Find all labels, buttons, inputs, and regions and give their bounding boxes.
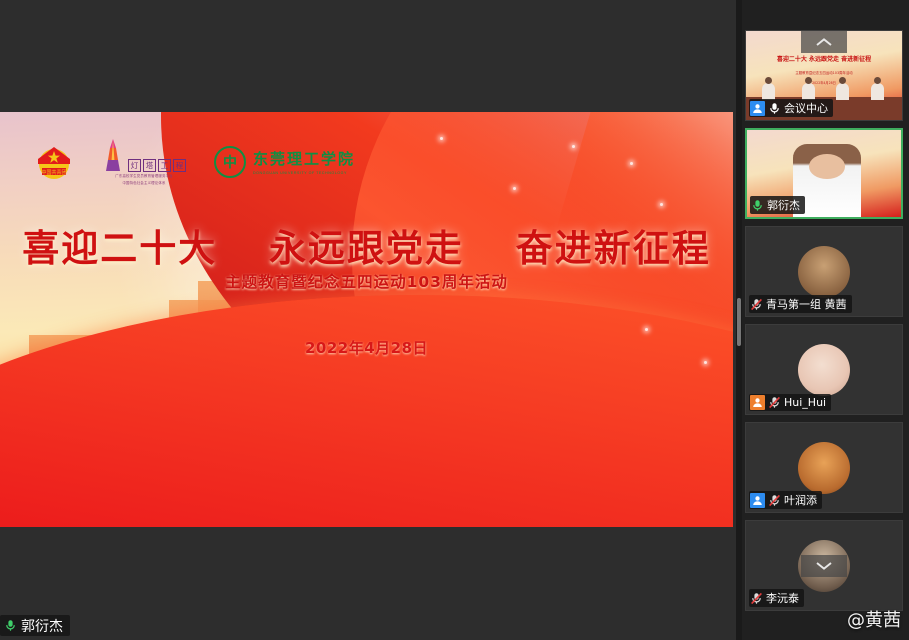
host-badge-icon (750, 101, 765, 116)
stage-speaker-label: 郭衍杰 (0, 615, 70, 636)
microphone-muted-icon (750, 298, 763, 311)
microphone-muted-icon (768, 494, 781, 507)
filmstrip-scrollbar-track[interactable] (736, 0, 742, 640)
dengta-char-1: 塔 (143, 159, 156, 172)
host-badge-icon (750, 395, 765, 410)
participant-badge: 青马第一组 黄茜 (749, 295, 852, 313)
participant-badge: Hui_Hui (749, 394, 831, 411)
participant-name: 会议中心 (784, 100, 828, 116)
slide-logo-row: 中国共青团 灯 塔 工 程 (34, 138, 355, 185)
participant-tile[interactable]: 叶润添 (745, 422, 903, 513)
participant-tile[interactable]: 李沅泰 (745, 520, 903, 611)
filmstrip-scrollbar-thumb[interactable] (737, 298, 741, 346)
university-seal-icon: 中 (214, 146, 246, 178)
chevron-down-icon[interactable] (801, 555, 847, 577)
slide-title-part1: 喜迎二十大 (22, 227, 217, 270)
participant-name: 李沅泰 (766, 590, 799, 606)
microphone-muted-icon (768, 396, 781, 409)
participant-tile[interactable]: 青马第一组 黄茜 (745, 226, 903, 317)
dengta-char-0: 灯 (128, 159, 141, 172)
dengta-char-3: 程 (173, 159, 186, 172)
thumb-banner-sub: 主题教育暨纪念五四运动103周年活动 (755, 70, 892, 75)
participant-badge: 李沅泰 (749, 589, 804, 607)
microphone-on-icon (4, 619, 17, 632)
stage-speaker-name: 郭衍杰 (21, 616, 63, 636)
participant-filmstrip[interactable]: 喜迎二十大 永远跟党走 奋进新征程 主题教育暨纪念五四运动103周年活动 202… (736, 0, 909, 640)
participant-badge: 郭衍杰 (750, 196, 805, 214)
dengta-sub-line1: 广东高校学生党员教育管理服务平台 (115, 174, 172, 179)
participant-name: Hui_Hui (784, 396, 826, 409)
avatar-dog (798, 442, 850, 494)
meeting-window: 中国共青团 灯 塔 工 程 (0, 0, 909, 640)
dengta-project-logo: 灯 塔 工 程 广东高校学生党员教育管理服务平台 中国特色社会主义理论体系 (102, 138, 186, 185)
participant-tile[interactable]: 喜迎二十大 奋进新征程 主题教育暨纪念五四运动103周年活动 郭衍杰 (745, 128, 903, 219)
slide-date: 2022年4月28日 (0, 337, 733, 358)
participant-name: 青马第一组 黄茜 (766, 296, 847, 312)
participant-name: 叶润添 (784, 492, 817, 508)
slide-title-part3: 奋进新征程 (516, 227, 711, 270)
slide-title: 喜迎二十大 永远跟党走 奋进新征程 (0, 218, 733, 272)
university-name-en: DONGGUAN UNIVERSITY OF TECHNOLOGY (253, 171, 355, 175)
communist-youth-league-emblem: 中国共青团 (34, 142, 74, 182)
participant-name: 郭衍杰 (767, 197, 800, 213)
participant-tile[interactable]: Hui_Hui (745, 324, 903, 415)
svg-text:中国共青团: 中国共青团 (41, 169, 66, 176)
dengta-sub-line2: 中国特色社会主义理论体系 (122, 181, 165, 186)
host-badge-icon (750, 493, 765, 508)
avatar-flower (798, 344, 850, 396)
watermark: @黄茜 (847, 606, 901, 632)
participant-badge: 叶润添 (749, 491, 822, 509)
microphone-on-icon (768, 102, 781, 115)
microphone-on-icon (751, 199, 764, 212)
chevron-up-icon[interactable] (801, 31, 847, 53)
dongguan-university-of-technology-logo: 中 东莞理工学院 DONGGUAN UNIVERSITY OF TECHNOLO… (214, 146, 355, 178)
microphone-muted-icon (750, 592, 763, 605)
participant-badge: 会议中心 (749, 99, 833, 117)
slide-subtitle: 主题教育暨纪念五四运动103周年活动 (0, 270, 733, 292)
thumb-banner-title: 喜迎二十大 永远跟党走 奋进新征程 (755, 54, 892, 63)
slide-title-part2: 永远跟党走 (269, 227, 464, 270)
university-name-cn: 东莞理工学院 (253, 148, 355, 169)
shared-screen-stage[interactable]: 中国共青团 灯 塔 工 程 (0, 0, 736, 640)
dengta-char-2: 工 (158, 159, 171, 172)
participant-tile[interactable]: 喜迎二十大 永远跟党走 奋进新征程 主题教育暨纪念五四运动103周年活动 202… (745, 30, 903, 121)
slide-ribbon-1 (0, 295, 733, 527)
avatar-teddy-bear (798, 246, 850, 298)
lighthouse-icon (102, 138, 124, 172)
presentation-slide: 中国共青团 灯 塔 工 程 (0, 112, 733, 527)
